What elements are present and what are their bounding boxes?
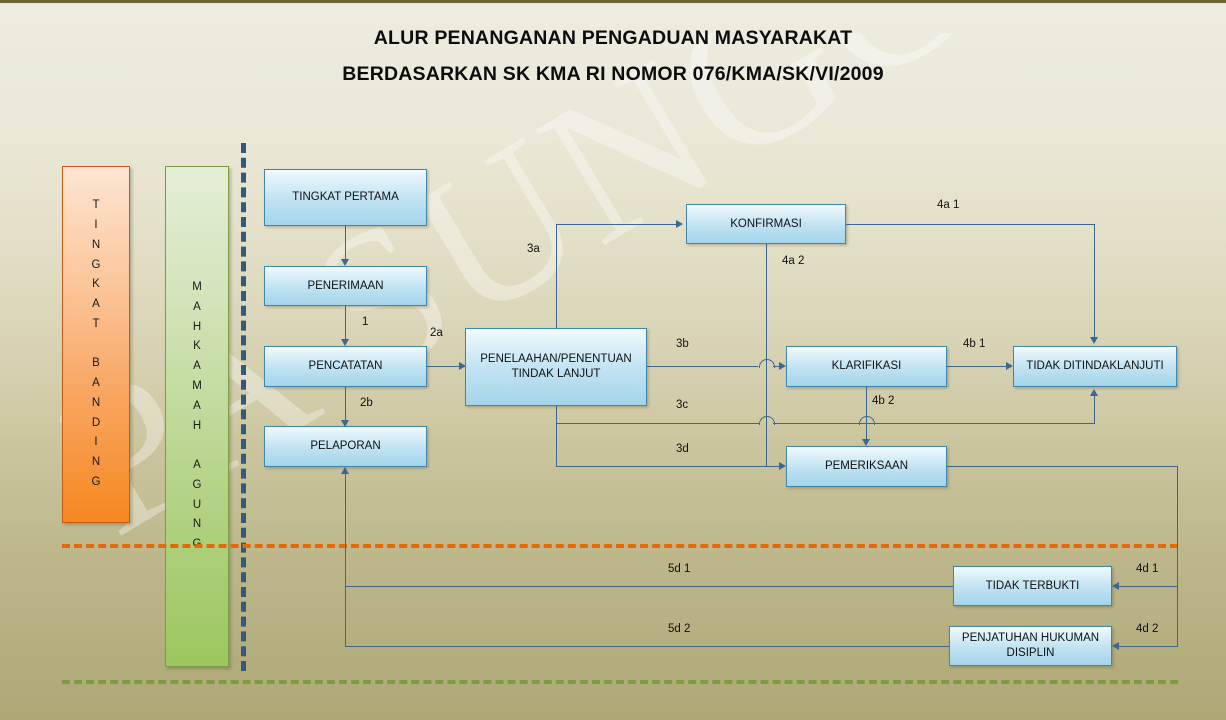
- connector-segment: [345, 586, 953, 587]
- arrowhead: [1006, 362, 1013, 370]
- node-tingkat-pertama-label: TINGKAT PERTAMA: [292, 190, 399, 205]
- lane-tingkat-banding-label: T I N G K A T B A N D I N G: [92, 196, 101, 492]
- arrowhead: [341, 259, 349, 266]
- node-klarifikasi[interactable]: KLARIFIKASI: [786, 346, 947, 387]
- connector-segment: [846, 224, 1095, 225]
- node-tingkat-pertama[interactable]: TINGKAT PERTAMA: [264, 169, 427, 226]
- node-klarifikasi-label: KLARIFIKASI: [832, 359, 902, 374]
- page-title-line1: ALUR PENANGANAN PENGADUAN MASYARAKAT: [0, 27, 1226, 50]
- connector-segment: [947, 466, 1178, 467]
- arrowhead: [1112, 582, 1119, 590]
- divider-horizontal-green-dashed: [62, 680, 1178, 684]
- node-pemeriksaan-label: PEMERIKSAAN: [825, 459, 908, 474]
- arrowhead: [779, 362, 786, 370]
- edge-label-5d2: 5d 2: [668, 623, 690, 635]
- arrowhead: [1090, 337, 1098, 344]
- line-hop: [759, 416, 775, 425]
- arrowhead: [862, 439, 870, 446]
- node-pelaporan[interactable]: PELAPORAN: [264, 426, 427, 467]
- edge-label-4a1: 4a 1: [937, 199, 959, 211]
- edge-label-3d: 3d: [676, 443, 689, 455]
- node-pelaporan-label: PELAPORAN: [310, 439, 380, 454]
- connector-segment: [345, 473, 346, 587]
- node-penelaahan-penentuan-tindak-lanjut[interactable]: PENELAAHAN/PENENTUAN TINDAK LANJUT: [465, 328, 647, 406]
- connector-segment: [1177, 466, 1178, 646]
- divider-vertical-dashed: [241, 143, 246, 671]
- connector-segment: [345, 306, 346, 342]
- arrowhead: [341, 467, 349, 474]
- page-title-line2: BERDASARKAN SK KMA RI NOMOR 076/KMA/SK/V…: [0, 63, 1226, 86]
- divider-horizontal-orange-dashed: [62, 544, 1178, 548]
- lane-tingkat-banding: T I N G K A T B A N D I N G: [62, 166, 130, 523]
- lane-mahkamah-agung: M A H K A M A H A G U N G: [165, 166, 229, 667]
- line-hop: [859, 416, 875, 425]
- node-penjatuhan-hukuman-disiplin[interactable]: PENJATUHAN HUKUMAN DISIPLIN: [949, 626, 1112, 666]
- edge-label-4a2: 4a 2: [782, 255, 804, 267]
- edge-label-3b: 3b: [676, 338, 689, 350]
- node-tidak-ditindaklanjuti-label: TIDAK DITINDAKLANJUTI: [1026, 359, 1163, 374]
- edge-label-2a: 2a: [430, 327, 443, 339]
- lane-mahkamah-agung-label: M A H K A M A H A G U N G: [192, 278, 202, 555]
- arrowhead: [779, 462, 786, 470]
- edge-label-1: 1: [362, 316, 368, 328]
- node-penjatuhan-label: PENJATUHAN HUKUMAN DISIPLIN: [950, 631, 1111, 660]
- connector-segment: [1118, 646, 1178, 647]
- connector-segment: [1094, 224, 1095, 338]
- connector-segment: [345, 387, 346, 423]
- node-tidak-ditindaklanjuti[interactable]: TIDAK DITINDAKLANJUTI: [1013, 346, 1177, 387]
- arrowhead: [341, 339, 349, 346]
- node-konfirmasi[interactable]: KONFIRMASI: [686, 204, 846, 244]
- connector-segment: [947, 366, 1007, 367]
- node-pemeriksaan[interactable]: PEMERIKSAAN: [786, 446, 947, 487]
- connector-segment: [1094, 395, 1095, 424]
- connector-segment: [345, 586, 346, 647]
- connector-segment: [766, 244, 767, 466]
- connector-segment: [773, 423, 1095, 424]
- connector-segment: [1118, 586, 1178, 587]
- connector-segment: [556, 224, 679, 225]
- connector-segment: [345, 226, 346, 262]
- arrowhead: [1112, 642, 1119, 650]
- edge-label-4b2: 4b 2: [872, 395, 894, 407]
- connector-segment: [556, 423, 759, 424]
- node-pencatatan[interactable]: PENCATATAN: [264, 346, 427, 387]
- node-penerimaan-label: PENERIMAAN: [307, 279, 383, 294]
- node-penelaahan-label: PENELAAHAN/PENENTUAN TINDAK LANJUT: [470, 352, 642, 381]
- arrowhead: [1090, 389, 1098, 396]
- connector-segment: [556, 406, 557, 467]
- connector-segment: [766, 466, 780, 467]
- connector-segment: [556, 466, 780, 467]
- edge-label-4b1: 4b 1: [963, 338, 985, 350]
- node-penerimaan[interactable]: PENERIMAAN: [264, 266, 427, 306]
- edge-label-4d1: 4d 1: [1136, 563, 1158, 575]
- edge-label-5d1: 5d 1: [668, 563, 690, 575]
- edge-label-3c: 3c: [676, 399, 688, 411]
- line-hop: [759, 359, 775, 368]
- connector-segment: [647, 366, 758, 367]
- connector-segment: [345, 646, 953, 647]
- node-pencatatan-label: PENCATATAN: [309, 359, 383, 374]
- node-konfirmasi-label: KONFIRMASI: [730, 217, 802, 232]
- node-tidak-terbukti-label: TIDAK TERBUKTI: [986, 579, 1080, 594]
- edge-label-4d2: 4d 2: [1136, 623, 1158, 635]
- arrowhead: [676, 220, 683, 228]
- connector-segment: [556, 224, 557, 328]
- diagram-canvas: PA SUNGGUMINASA ALUR PENANGANAN PENGADUA…: [0, 0, 1226, 720]
- edge-label-2b: 2b: [360, 397, 373, 409]
- connector-segment: [866, 387, 867, 442]
- node-tidak-terbukti[interactable]: TIDAK TERBUKTI: [953, 566, 1112, 606]
- edge-label-3a: 3a: [527, 243, 540, 255]
